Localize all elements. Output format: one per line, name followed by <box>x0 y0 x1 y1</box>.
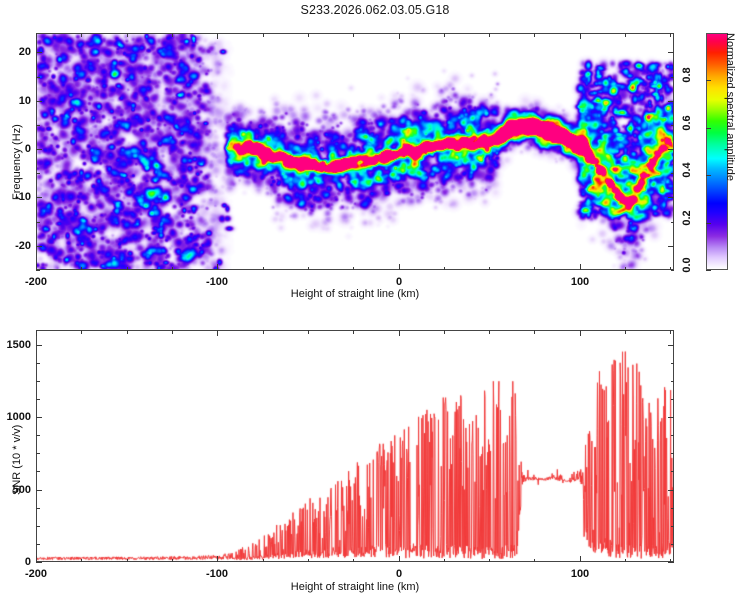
x-tick-minor <box>172 559 173 563</box>
figure-title: S233.2026.062.03.05.G18 <box>0 3 750 17</box>
y-tick-major-right <box>668 417 674 418</box>
y-tick-minor-right <box>671 381 675 382</box>
x-tick-label: -200 <box>25 276 47 288</box>
x-tick-minor <box>127 267 128 271</box>
snr-panel <box>36 330 674 562</box>
x-tick-major-top <box>580 330 581 336</box>
x-tick-major-top <box>399 330 400 336</box>
y-tick-minor <box>36 125 40 126</box>
colorbar-tick <box>706 80 711 81</box>
x-tick-minor-top <box>444 33 445 37</box>
x-tick-minor-top <box>444 330 445 334</box>
x-tick-major <box>217 556 218 562</box>
y-tick-minor-right <box>671 544 675 545</box>
x-tick-minor-top <box>670 330 671 334</box>
spectrogram-panel <box>36 33 674 270</box>
x-tick-minor-top <box>127 33 128 37</box>
y-tick-minor <box>36 526 40 527</box>
y-tick-major-right <box>668 149 674 150</box>
x-tick-minor <box>308 559 309 563</box>
y-tick-label: 20 <box>3 46 31 58</box>
y-tick-minor <box>36 222 40 223</box>
y-tick-minor-right <box>671 435 675 436</box>
spectrogram-canvas <box>37 34 673 269</box>
y-tick-major <box>36 345 42 346</box>
x-tick-minor <box>489 559 490 563</box>
x-tick-major <box>399 556 400 562</box>
y-tick-minor-right <box>671 173 675 174</box>
y-tick-major <box>36 52 42 53</box>
x-tick-minor-top <box>625 330 626 334</box>
x-tick-minor-top <box>353 330 354 334</box>
figure-root: S233.2026.062.03.05.G18 -200-1000100-20-… <box>0 0 750 600</box>
x-tick-minor-top <box>489 33 490 37</box>
x-tick-minor-top <box>172 33 173 37</box>
colorbar-tick-label: 0.4 <box>681 159 693 181</box>
y-tick-minor <box>36 77 40 78</box>
y-tick-minor <box>36 363 40 364</box>
y-tick-major-right <box>668 197 674 198</box>
y-tick-minor <box>36 173 40 174</box>
x-tick-minor <box>444 267 445 271</box>
y-tick-label: 1000 <box>0 411 31 423</box>
y-tick-label: 10 <box>3 95 31 107</box>
x-tick-label: -100 <box>206 276 228 288</box>
y-tick-minor <box>36 471 40 472</box>
x-tick-major <box>580 264 581 270</box>
snr-y-axis-title: SNR (10 * v/v) <box>11 425 23 495</box>
y-tick-minor-right <box>671 363 675 364</box>
x-tick-label: -100 <box>206 568 228 580</box>
x-tick-minor-top <box>172 330 173 334</box>
x-tick-minor <box>625 559 626 563</box>
colorbar-tick-label: 0.8 <box>681 64 693 86</box>
y-tick-minor-right <box>671 508 675 509</box>
y-tick-minor-right <box>671 526 675 527</box>
y-tick-major-right <box>668 101 674 102</box>
x-tick-minor <box>353 267 354 271</box>
colorbar-tick-label: 0.6 <box>681 112 693 134</box>
y-tick-major-right <box>668 490 674 491</box>
colorbar-title: Normalized spectral amplitude <box>724 33 736 181</box>
x-tick-minor <box>534 267 535 271</box>
y-tick-minor <box>36 508 40 509</box>
x-tick-major-top <box>217 330 218 336</box>
x-tick-label: 100 <box>571 276 589 288</box>
colorbar-tick <box>706 128 711 129</box>
y-tick-minor <box>36 453 40 454</box>
x-tick-minor <box>81 267 82 271</box>
y-tick-major <box>36 197 42 198</box>
y-tick-minor <box>36 435 40 436</box>
x-tick-minor <box>534 559 535 563</box>
snr-canvas <box>37 331 673 561</box>
spectrogram-x-axis-title: Height of straight line (km) <box>291 288 419 300</box>
x-tick-major <box>399 264 400 270</box>
x-tick-minor-top <box>489 330 490 334</box>
x-tick-minor <box>263 559 264 563</box>
snr-x-axis-title: Height of straight line (km) <box>291 581 419 593</box>
x-tick-minor <box>263 267 264 271</box>
y-tick-minor-right <box>671 453 675 454</box>
x-tick-minor-top <box>308 330 309 334</box>
y-tick-major <box>36 101 42 102</box>
x-tick-minor <box>127 559 128 563</box>
y-tick-minor <box>36 544 40 545</box>
x-tick-major-top <box>217 33 218 39</box>
y-tick-minor-right <box>671 125 675 126</box>
colorbar-tick-label: 0.2 <box>681 207 693 229</box>
x-tick-minor <box>172 267 173 271</box>
y-tick-major <box>36 246 42 247</box>
y-tick-minor-right <box>671 222 675 223</box>
y-tick-minor-right <box>671 77 675 78</box>
x-tick-minor-top <box>81 330 82 334</box>
x-tick-major-top <box>580 33 581 39</box>
x-tick-minor <box>489 267 490 271</box>
x-tick-major <box>217 264 218 270</box>
y-tick-major <box>36 562 42 563</box>
x-tick-major-top <box>36 33 37 39</box>
x-tick-minor <box>308 267 309 271</box>
x-tick-minor-top <box>670 33 671 37</box>
y-tick-minor <box>36 270 40 271</box>
x-tick-minor <box>81 559 82 563</box>
x-tick-minor-top <box>308 33 309 37</box>
y-tick-major-right <box>668 246 674 247</box>
x-tick-major <box>580 556 581 562</box>
y-tick-label: 0 <box>0 556 31 568</box>
x-tick-label: 0 <box>396 276 402 288</box>
y-tick-major-right <box>668 562 674 563</box>
x-tick-minor-top <box>625 33 626 37</box>
y-tick-minor-right <box>671 399 675 400</box>
y-tick-minor-right <box>671 270 675 271</box>
x-tick-label: -200 <box>25 568 47 580</box>
spectrogram-y-axis-title: Frequency (Hz) <box>11 124 23 200</box>
colorbar-tick <box>706 223 711 224</box>
y-tick-minor <box>36 399 40 400</box>
x-tick-label: 100 <box>571 568 589 580</box>
x-tick-minor-top <box>263 330 264 334</box>
y-tick-major <box>36 149 42 150</box>
x-tick-minor-top <box>534 33 535 37</box>
y-tick-label: 1500 <box>0 339 31 351</box>
x-tick-major-top <box>36 330 37 336</box>
x-tick-minor-top <box>534 330 535 334</box>
x-tick-minor <box>444 559 445 563</box>
x-tick-minor-top <box>127 330 128 334</box>
y-tick-minor-right <box>671 471 675 472</box>
y-tick-major <box>36 490 42 491</box>
x-tick-minor-top <box>263 33 264 37</box>
x-tick-minor <box>625 267 626 271</box>
colorbar-tick <box>706 175 711 176</box>
colorbar-tick <box>706 270 711 271</box>
x-tick-minor-top <box>81 33 82 37</box>
colorbar-tick-label: 0.0 <box>681 254 693 276</box>
x-tick-major-top <box>399 33 400 39</box>
x-tick-label: 0 <box>396 568 402 580</box>
y-tick-minor <box>36 381 40 382</box>
x-tick-minor-top <box>353 33 354 37</box>
x-tick-minor <box>353 559 354 563</box>
y-tick-major <box>36 417 42 418</box>
y-tick-major-right <box>668 345 674 346</box>
y-tick-label: -20 <box>3 240 31 252</box>
y-tick-major-right <box>668 52 674 53</box>
